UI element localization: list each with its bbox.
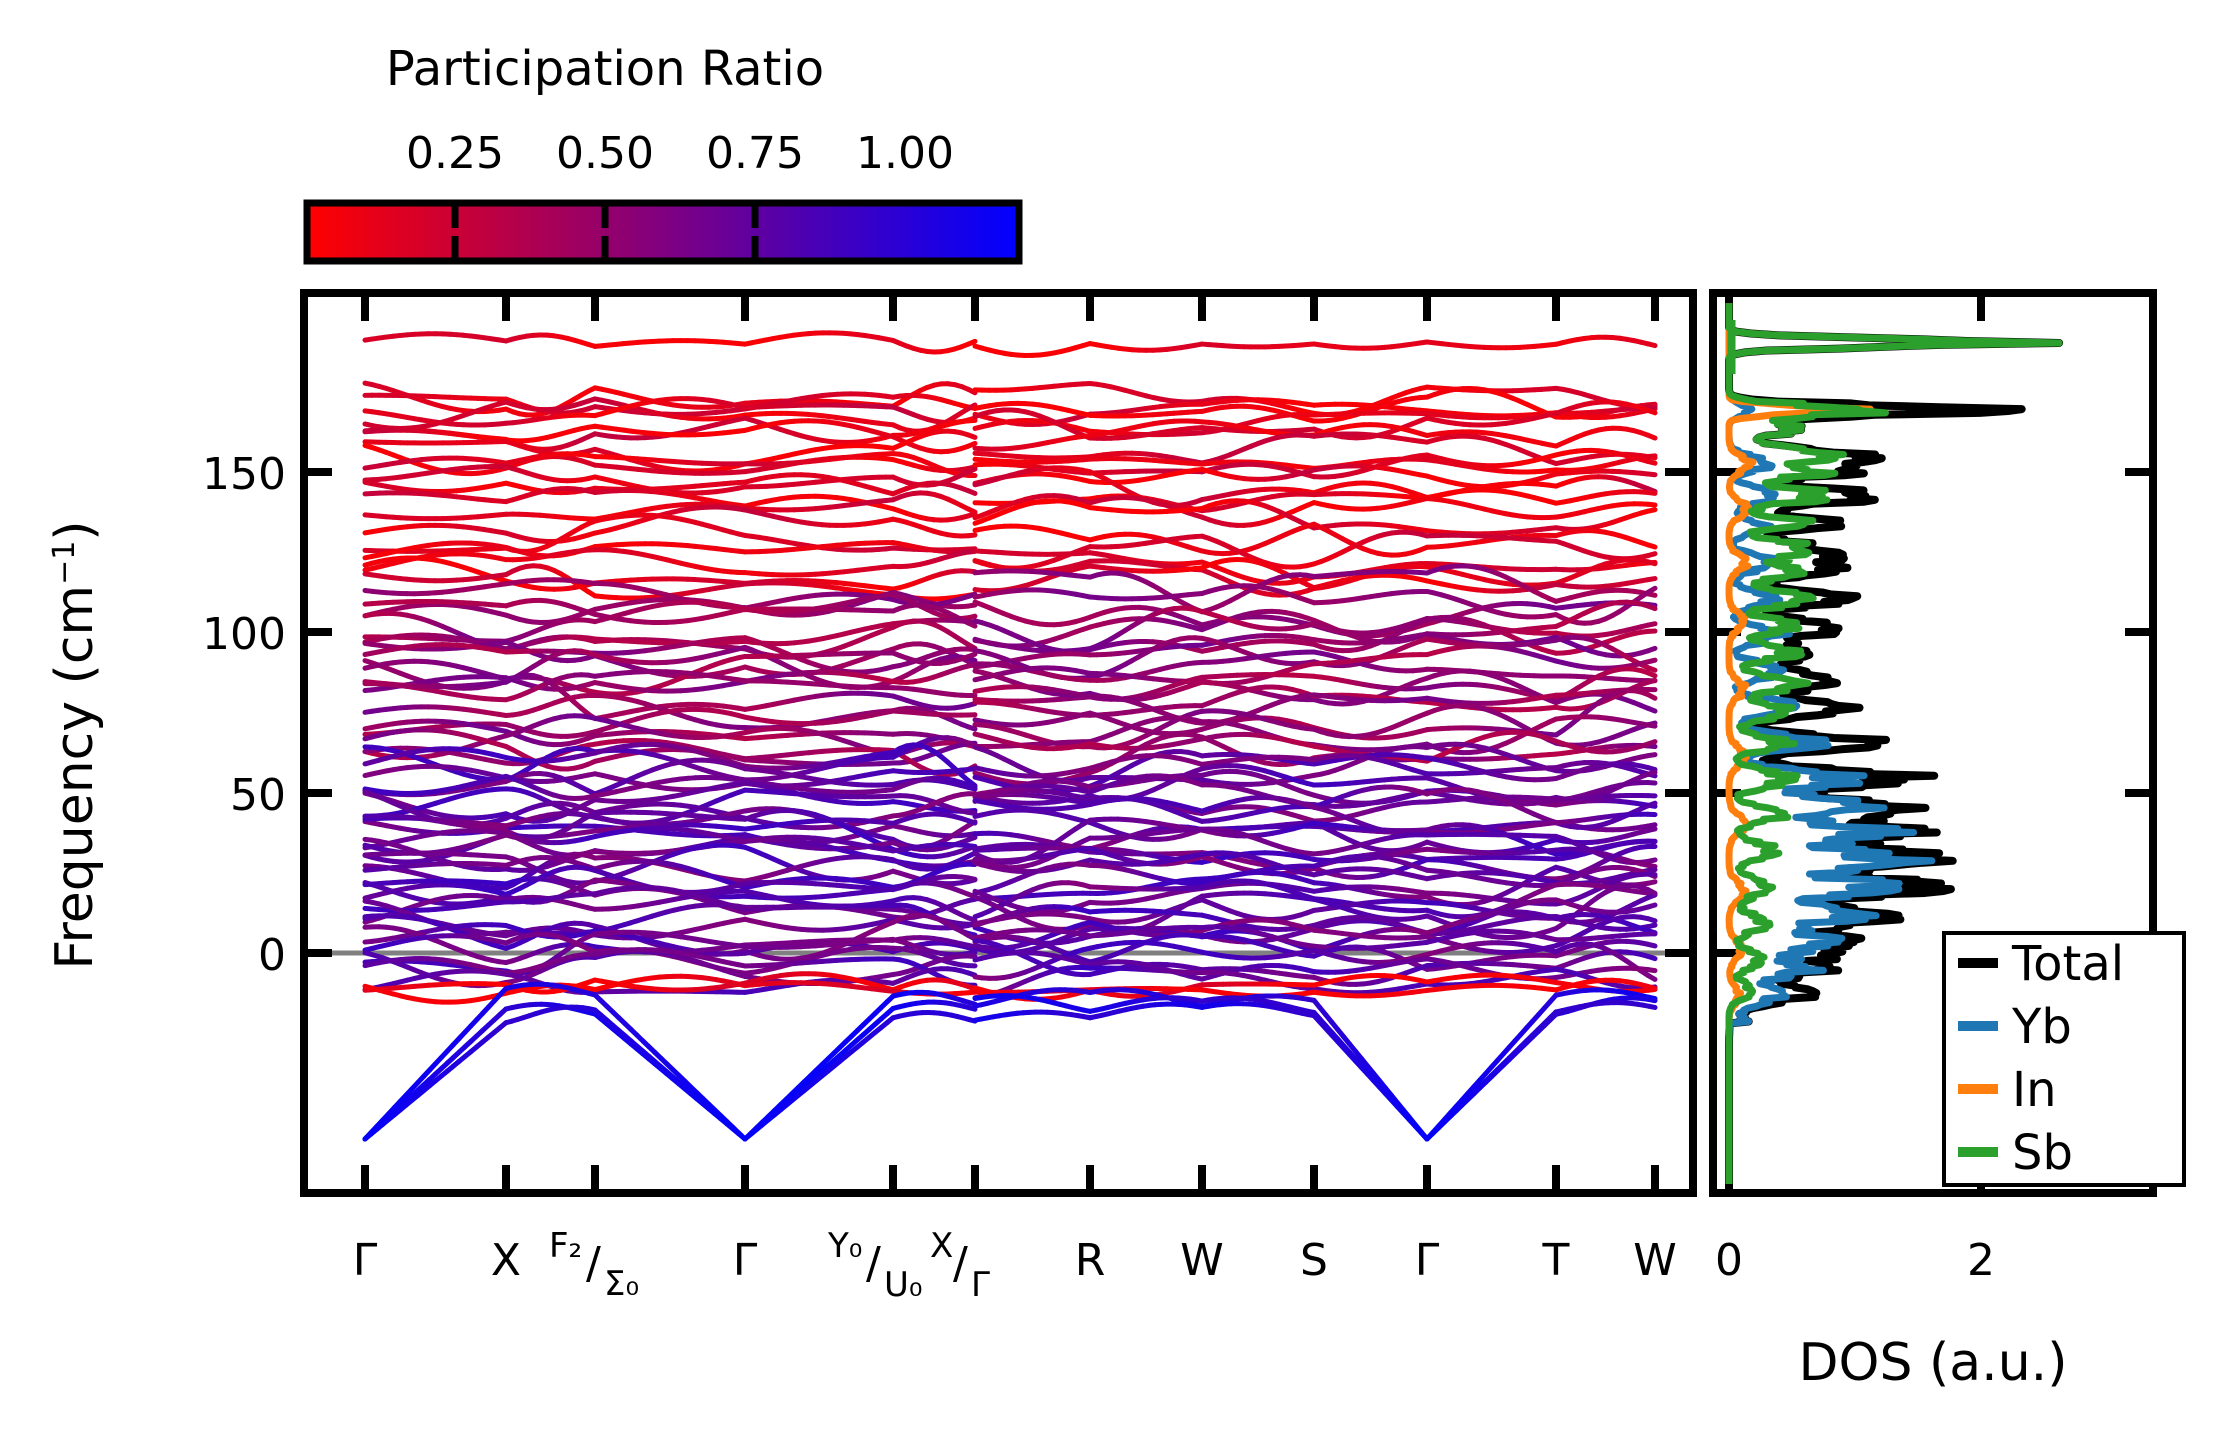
x-tick-label-t: T xyxy=(1542,1235,1570,1286)
x-tick-label-w-1: W xyxy=(1180,1235,1224,1286)
colorbar-tick-label-4: 1.00 xyxy=(856,128,954,179)
x-tick-label-r: R xyxy=(1075,1235,1106,1286)
bands-axes: 150 100 50 0 xyxy=(202,293,1693,1305)
x-tick-label-f2-num: F₂ xyxy=(549,1226,582,1266)
x-tick-label-gamma-den: Γ xyxy=(971,1265,990,1305)
y-tick-label-150: 150 xyxy=(202,449,286,500)
x-tick-slash-1: / xyxy=(586,1238,601,1289)
colorbar-gradient-bar xyxy=(307,203,1019,261)
x-tick-label-y0-num: Y₀ xyxy=(827,1226,862,1266)
x-tick-label-x-1: X xyxy=(491,1235,521,1286)
legend-label-sb: Sb xyxy=(2012,1125,2073,1181)
x-tick-label-gamma-1: Γ xyxy=(353,1235,378,1286)
legend-label-total: Total xyxy=(2011,936,2124,992)
legend-label-yb: Yb xyxy=(2011,999,2072,1055)
colorbar-tick-label-1: 0.25 xyxy=(406,128,504,179)
y-axis-label-group: Frequency (cm−1) xyxy=(45,520,105,969)
x-tick-slash-2: / xyxy=(866,1238,881,1289)
dos-x-tick-label-2: 2 xyxy=(1967,1235,1995,1286)
colorbar-tick-label-3: 0.75 xyxy=(706,128,804,179)
x-tick-label-sigma0-den: Σ₀ xyxy=(604,1264,639,1304)
y-axis-label: Frequency (cm−1) xyxy=(45,520,105,969)
x-tick-label-gamma-2: Γ xyxy=(733,1235,758,1286)
x-tick-label-gamma-3: Γ xyxy=(1415,1235,1440,1286)
bands-plot-frame xyxy=(304,293,1693,1193)
colorbar-title: Participation Ratio xyxy=(386,41,824,97)
y-tick-label-100: 100 xyxy=(202,609,286,660)
y-tick-label-0: 0 xyxy=(258,930,286,981)
x-tick-slash-3: / xyxy=(953,1238,968,1289)
x-tick-label-u0-den: U₀ xyxy=(884,1265,923,1305)
dos-x-axis-label: DOS (a.u.) xyxy=(1799,1333,2068,1393)
x-tick-label-w-2: W xyxy=(1633,1235,1677,1286)
colorbar-tick-label-2: 0.50 xyxy=(556,128,654,179)
dos-x-tick-label-0: 0 xyxy=(1715,1235,1743,1286)
x-tick-label-s: S xyxy=(1300,1235,1328,1286)
x-tick-label-x-num: X xyxy=(930,1226,953,1266)
dos-legend: Total Yb In Sb xyxy=(1944,933,2184,1185)
legend-label-in: In xyxy=(2012,1062,2057,1118)
y-tick-label-50: 50 xyxy=(230,770,286,821)
figure-canvas: Participation Ratio 0.25 0.50 0.75 1.00 … xyxy=(0,0,2222,1455)
figure-svg: Participation Ratio 0.25 0.50 0.75 1.00 … xyxy=(0,0,2222,1455)
